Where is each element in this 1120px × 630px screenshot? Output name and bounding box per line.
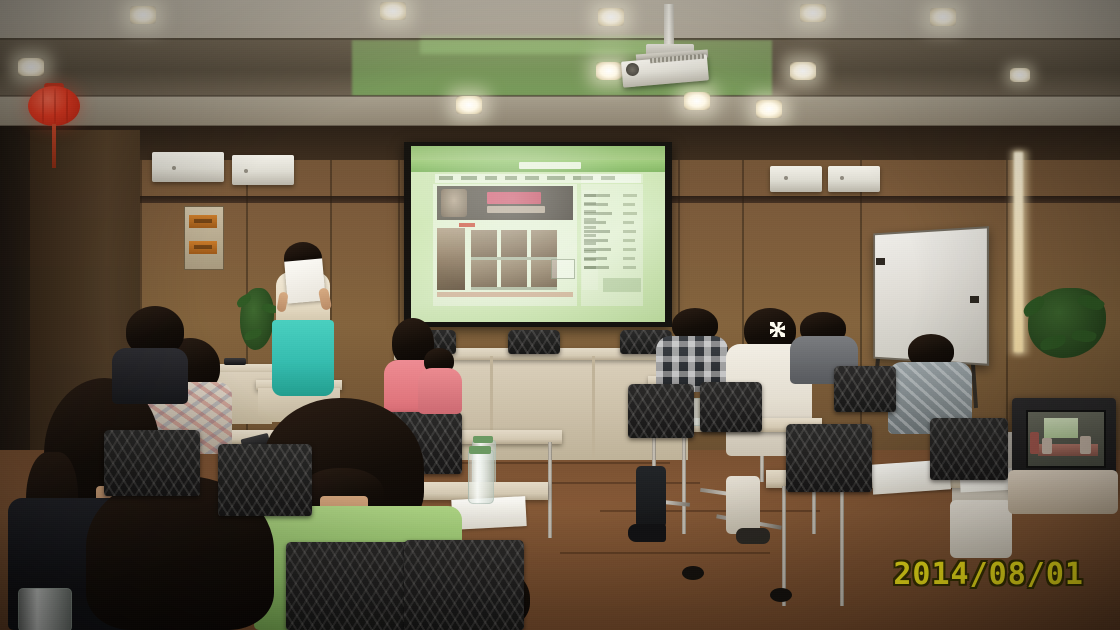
date-stamp: 2014/08/01 (893, 557, 1084, 592)
chair-left-mid[interactable] (104, 430, 200, 496)
lantern-tassel (52, 124, 56, 168)
table-panel-seam (592, 356, 595, 460)
wall-plaque-plate-1 (189, 215, 217, 228)
attendee-mid-dark-top (112, 348, 188, 404)
ceiling-tray-lower (0, 96, 1120, 126)
whiteboard-clip-right (970, 296, 979, 303)
chair-right-back-2[interactable] (700, 382, 762, 432)
camcorder-lcd-screen (1026, 410, 1106, 468)
chair-left-front[interactable] (218, 444, 312, 516)
chair-front-right[interactable] (404, 540, 524, 630)
bottle-cap (469, 446, 491, 454)
flower-hairpin-icon (770, 322, 785, 337)
ceiling-downlight (596, 62, 622, 80)
glass-cup[interactable] (18, 588, 72, 630)
camcorder-preview-projection-screen (1044, 418, 1078, 438)
chair-caster (770, 588, 792, 602)
bottle-cap (473, 436, 493, 443)
ceiling-downlight (1010, 68, 1030, 82)
chair-back-row[interactable] (508, 330, 560, 354)
camcorder-preview-person (1030, 432, 1039, 454)
attendee-pink2-top (418, 368, 462, 414)
whiteboard-clip-left (876, 258, 885, 265)
ceiling-downlight (130, 6, 156, 24)
table-leg (840, 488, 844, 606)
wall-plaque-text-1 (194, 219, 212, 223)
wall-plaque-plate-2 (189, 241, 217, 254)
camcorder-preview-person (1042, 438, 1052, 454)
ceiling-downlight (930, 8, 956, 26)
air-conditioner-icon (828, 166, 880, 192)
projection-screen-surface (411, 146, 665, 322)
air-conditioner-indicator (172, 166, 176, 170)
attendee-legs (950, 500, 1012, 558)
air-conditioner-indicator (244, 169, 248, 173)
water-bottle[interactable] (468, 450, 494, 504)
ceiling-seam-mid (0, 95, 1120, 97)
chair-right-mid[interactable] (786, 424, 872, 492)
air-conditioner-icon (232, 155, 294, 185)
wall-panel-seam (860, 160, 862, 460)
ceiling-seam-upper (0, 38, 1120, 40)
ceiling-downlight (456, 96, 482, 114)
ceiling-downlight (380, 2, 406, 20)
attendee-shoe (628, 524, 666, 542)
air-conditioner-icon (770, 166, 822, 192)
lantern-rib (54, 88, 56, 124)
air-conditioner-indicator (840, 176, 844, 180)
table-leg (548, 442, 552, 538)
lantern-rib (42, 88, 44, 124)
wall-plaque-text-2 (194, 245, 212, 249)
attendee-shoe (736, 528, 770, 544)
air-conditioner-icon (152, 152, 224, 182)
chair-right-far[interactable] (834, 366, 896, 412)
attendee-legs (726, 476, 760, 534)
projection-glare (411, 146, 665, 322)
presenter-skirt (272, 320, 334, 396)
lantern-rib (66, 88, 68, 124)
table-leg (682, 430, 686, 534)
ceiling-downlight (18, 58, 44, 76)
chair-right-far-2[interactable] (930, 418, 1008, 480)
floor-plank-line (560, 552, 770, 554)
hand-on-camcorder (1008, 470, 1118, 514)
ceiling-downlight (684, 92, 710, 110)
chair-right-back[interactable] (628, 384, 694, 438)
projector-mount-pole (664, 4, 674, 46)
ceiling-downlight (790, 62, 816, 80)
floor-plank-line (600, 510, 820, 512)
ceiling-downlight (598, 8, 624, 26)
attendee-legs (636, 466, 666, 528)
chair-caster (682, 566, 704, 580)
camcorder-preview-person (1080, 436, 1091, 454)
ceiling-downlight (800, 4, 826, 22)
classroom-photograph: 2014/08/01 (0, 0, 1120, 630)
wall-light-strip (1014, 152, 1023, 352)
phone-on-table[interactable] (224, 358, 246, 365)
ceiling-downlight (756, 100, 782, 118)
air-conditioner-indicator (784, 176, 788, 180)
